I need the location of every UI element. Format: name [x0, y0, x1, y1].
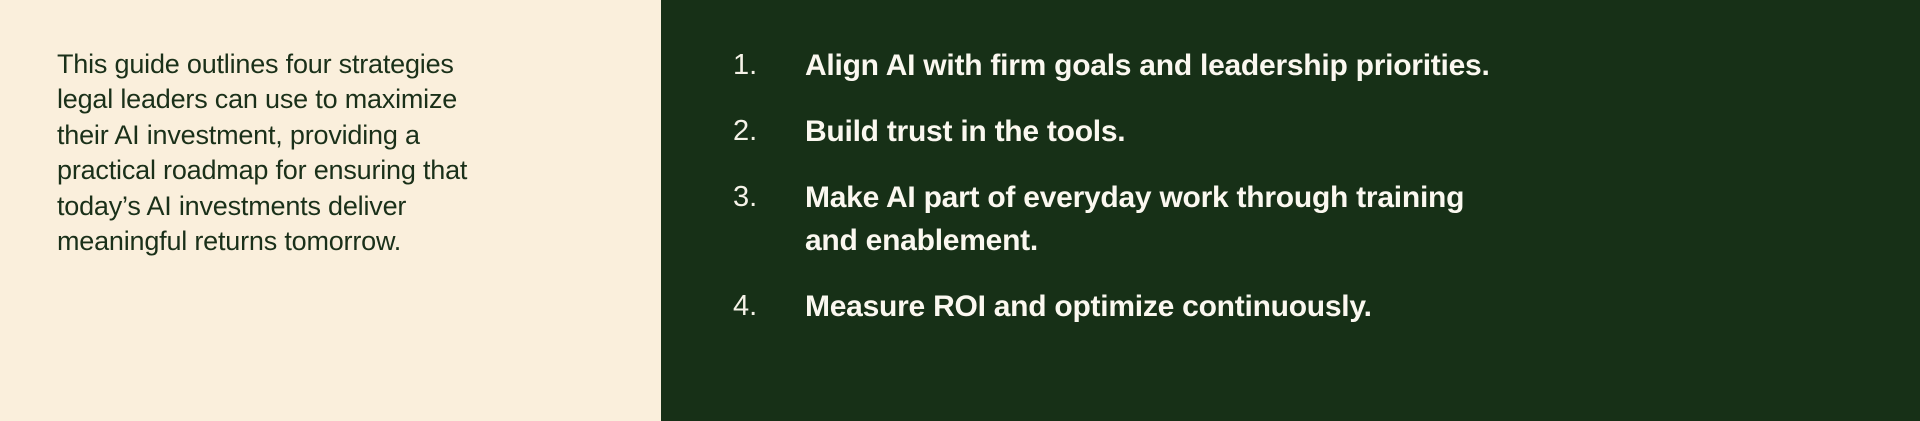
intro-paragraph: This guide outlines four strategies lega…	[57, 47, 487, 259]
strategy-list: 1. Align AI with firm goals and leadersh…	[733, 44, 1853, 328]
list-item: 3. Make AI part of everyday work through…	[733, 176, 1853, 262]
list-item: 2. Build trust in the tools.	[733, 110, 1853, 153]
list-item-number: 1.	[733, 44, 805, 87]
two-column-callout: This guide outlines four strategies lega…	[0, 0, 1920, 421]
list-item: 4. Measure ROI and optimize continuously…	[733, 285, 1853, 328]
list-item-text: Align AI with firm goals and leadership …	[805, 44, 1565, 87]
list-item: 1. Align AI with firm goals and leadersh…	[733, 44, 1853, 87]
list-item-number: 4.	[733, 285, 805, 328]
list-item-text: Measure ROI and optimize continuously.	[805, 285, 1565, 328]
list-item-text: Make AI part of everyday work through tr…	[805, 176, 1520, 262]
left-summary-panel: This guide outlines four strategies lega…	[0, 0, 661, 421]
list-item-number: 2.	[733, 110, 805, 153]
list-item-text: Build trust in the tools.	[805, 110, 1565, 153]
right-strategy-panel: 1. Align AI with firm goals and leadersh…	[661, 0, 1920, 421]
list-item-number: 3.	[733, 176, 805, 219]
